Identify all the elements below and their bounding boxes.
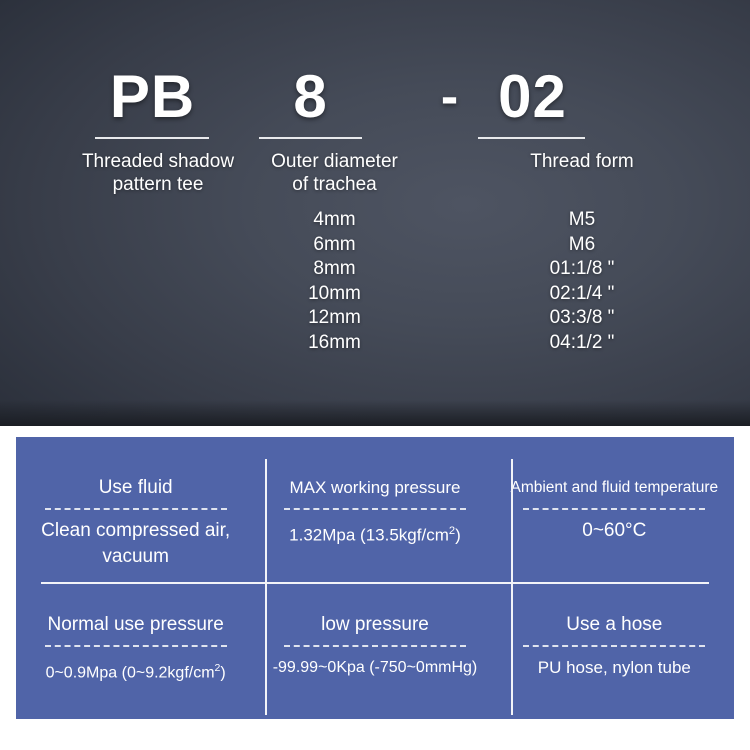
spec-value: 1.32Mpa (13.5kgf/cm2) bbox=[289, 518, 461, 549]
underline-prefix bbox=[95, 137, 209, 139]
spec-title: Normal use pressure bbox=[47, 614, 223, 636]
spec-cell-use-a-hose: Use a hose PU hose, nylon tube bbox=[495, 582, 734, 719]
caption-diameter: Outer diameterof trachea bbox=[232, 150, 437, 196]
code-prefix: PB bbox=[95, 62, 210, 132]
specification-table: Use fluid Clean compressed air,vacuum MA… bbox=[16, 437, 734, 719]
spec-value: Clean compressed air,vacuum bbox=[33, 518, 238, 570]
dashed-separator bbox=[284, 645, 466, 647]
underline-thread bbox=[478, 137, 585, 139]
dashed-separator bbox=[45, 508, 227, 510]
table-divider-horizontal bbox=[41, 582, 709, 584]
code-thread: 02 bbox=[480, 62, 585, 132]
list-item: 04:1/2 " bbox=[470, 331, 694, 356]
spec-value: 0~60°C bbox=[582, 518, 646, 544]
spec-title: Use fluid bbox=[99, 477, 173, 499]
caption-thread: Thread form bbox=[470, 150, 694, 173]
spec-value-main: 0~0.9Mpa (0~9.2kgf/cm bbox=[46, 664, 215, 681]
spec-title: Use a hose bbox=[566, 614, 662, 636]
table-divider-vertical-1 bbox=[265, 459, 267, 715]
model-code-panel: PB 8 - 02 Threaded shadowpattern tee Out… bbox=[0, 0, 750, 426]
spec-cell-use-fluid: Use fluid Clean compressed air,vacuum bbox=[16, 437, 255, 582]
spec-cell-ambient-temperature: Ambient and fluid temperature 0~60°C bbox=[495, 437, 734, 582]
underline-diameter bbox=[259, 137, 362, 139]
product-spec-page: PB 8 - 02 Threaded shadowpattern tee Out… bbox=[0, 0, 750, 750]
list-item: 10mm bbox=[232, 282, 437, 307]
dashed-separator bbox=[45, 645, 227, 647]
model-code-row: PB 8 - 02 bbox=[0, 62, 750, 132]
spec-row-top: Use fluid Clean compressed air,vacuum MA… bbox=[16, 437, 734, 582]
spec-cell-max-working-pressure: MAX working pressure 1.32Mpa (13.5kgf/cm… bbox=[255, 437, 494, 582]
list-item: 01:1/8 " bbox=[470, 257, 694, 282]
spec-value-tail: ) bbox=[455, 526, 461, 545]
table-divider-vertical-2 bbox=[511, 459, 513, 715]
code-diameter: 8 bbox=[258, 62, 363, 132]
spec-title: Ambient and fluid temperature bbox=[510, 477, 718, 499]
spec-cell-normal-use-pressure: Normal use pressure 0~0.9Mpa (0~9.2kgf/c… bbox=[16, 582, 255, 719]
spec-cell-low-pressure: low pressure -99.99~0Kpa (-750~0mmHg) bbox=[255, 582, 494, 719]
dashed-separator bbox=[284, 508, 466, 510]
list-item: 16mm bbox=[232, 331, 437, 356]
list-item: M6 bbox=[470, 233, 694, 258]
spec-value-main: 1.32Mpa (13.5kgf/cm bbox=[289, 526, 449, 545]
list-item: 6mm bbox=[232, 233, 437, 258]
code-separator: - bbox=[410, 62, 490, 132]
spec-value: 0~0.9Mpa (0~9.2kgf/cm2) bbox=[46, 655, 226, 686]
spec-title: MAX working pressure bbox=[289, 477, 460, 499]
spec-value-tail: ) bbox=[220, 664, 225, 681]
spec-value: -99.99~0Kpa (-750~0mmHg) bbox=[273, 655, 478, 681]
thread-option-list: M5M601:1/8 "02:1/4 "03:3/8 "04:1/2 " bbox=[470, 208, 694, 355]
dashed-separator bbox=[523, 645, 705, 647]
list-item: M5 bbox=[470, 208, 694, 233]
spec-title: low pressure bbox=[321, 614, 429, 636]
list-item: 02:1/4 " bbox=[470, 282, 694, 307]
list-item: 03:3/8 " bbox=[470, 306, 694, 331]
dashed-separator bbox=[523, 508, 705, 510]
list-item: 12mm bbox=[232, 306, 437, 331]
list-item: 4mm bbox=[232, 208, 437, 233]
spec-value: PU hose, nylon tube bbox=[538, 655, 691, 681]
list-item: 8mm bbox=[232, 257, 437, 282]
diameter-option-list: 4mm6mm8mm10mm12mm16mm bbox=[232, 208, 437, 355]
spec-row-bottom: Normal use pressure 0~0.9Mpa (0~9.2kgf/c… bbox=[16, 582, 734, 719]
